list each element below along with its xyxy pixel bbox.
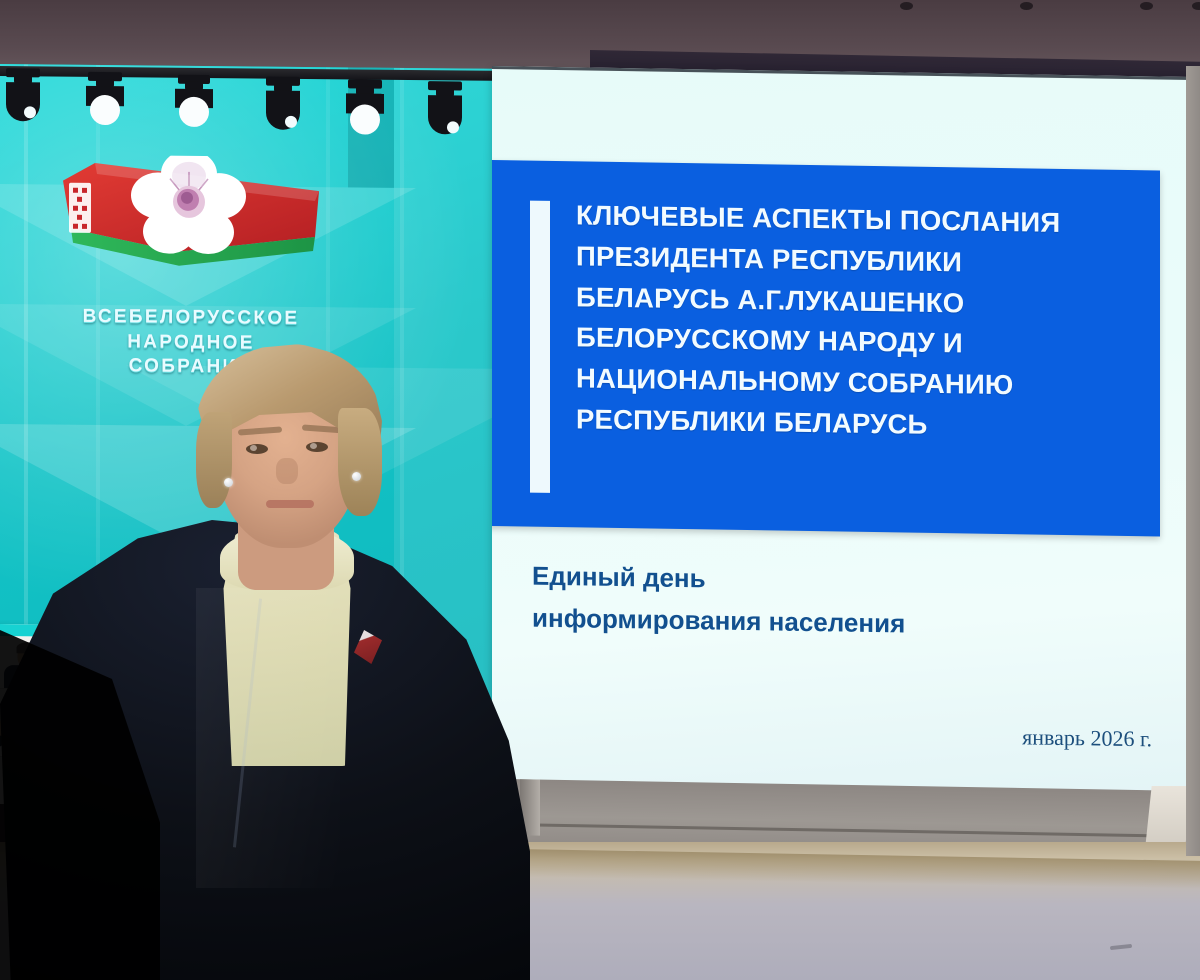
ceiling-vent-holes	[600, 0, 1200, 14]
eye-highlight-left	[250, 445, 257, 451]
slide-title: КЛЮЧЕВЫЕ АСПЕКТЫ ПОСЛАНИЯ ПРЕЗИДЕНТА РЕС…	[576, 195, 1142, 449]
slide-subtitle: Единый день информирования населения	[532, 555, 1072, 648]
nose	[276, 458, 298, 484]
projection-screen: КЛЮЧЕВЫЕ АСПЕКТЫ ПОСЛАНИЯ ПРЕЗИДЕНТА РЕС…	[492, 66, 1200, 795]
wall-trim-line	[450, 822, 1200, 838]
stage-lights	[0, 68, 492, 149]
eye-highlight-right	[310, 443, 317, 449]
emblem-caption-line-1: ВСЕБЕЛОРУССКОЕ	[51, 305, 331, 332]
presenter	[0, 330, 560, 980]
earring-left	[224, 478, 233, 487]
right-wall-strip	[1186, 66, 1200, 856]
slide-title-block: КЛЮЧЕВЫЕ АСПЕКТЫ ПОСЛАНИЯ ПРЕЗИДЕНТА РЕС…	[492, 158, 1160, 536]
belarus-flag-icon	[57, 155, 322, 270]
photo-scene: ВСЕБЕЛОРУССКОЕ НАРОДНОЕ СОБРАНИЕ	[0, 0, 1200, 980]
slide-date: январь 2026 г.	[822, 721, 1152, 752]
hair-left-side	[196, 412, 232, 508]
blazer-lapel	[196, 588, 340, 888]
earring-right	[352, 472, 361, 481]
slide-subtitle-line-2: информирования населения	[532, 597, 1072, 648]
hair-right-side	[338, 408, 382, 516]
mouth	[266, 500, 314, 508]
slide-title-line-6: РЕСПУБЛИКИ БЕЛАРУСЬ	[576, 399, 1142, 449]
